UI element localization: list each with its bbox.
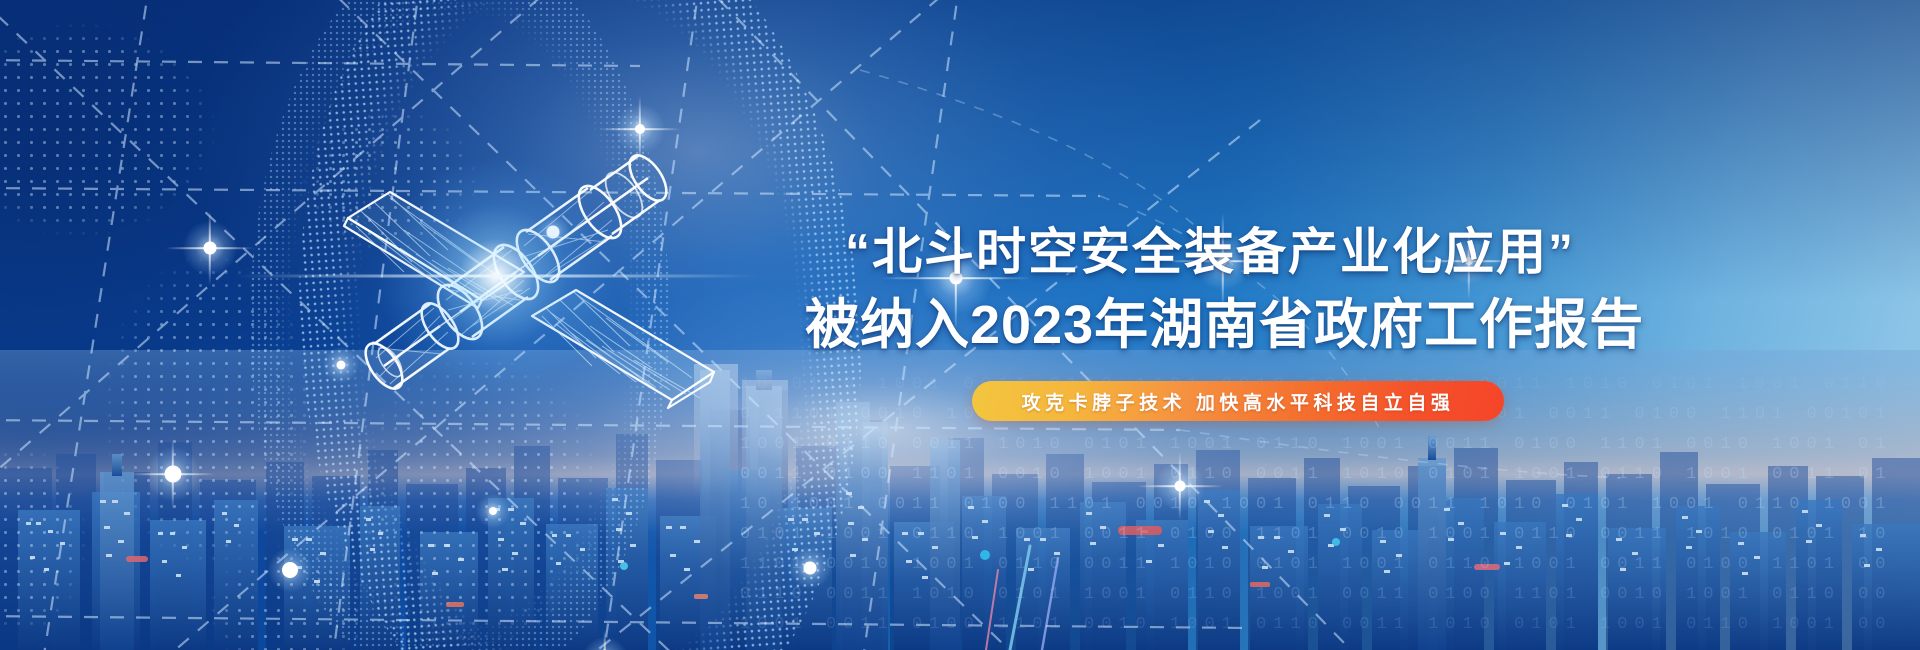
page-title-line2: 被纳入2023年湖南省政府工作报告 [805, 298, 1644, 352]
slogan-badge[interactable]: 攻克卡脖子技术 加快高水平科技自立自强 [972, 381, 1504, 421]
page-title-line1: “北斗时空安全装备产业化应用” [845, 227, 1575, 277]
banner-hero: 10 0110 1001 0011 0100 1101 0010 1001 01… [0, 0, 1920, 650]
wireframe-satellite-icon [300, 120, 780, 450]
slogan-badge-label: 攻克卡脖子技术 加快高水平科技自立自强 [1022, 388, 1455, 415]
